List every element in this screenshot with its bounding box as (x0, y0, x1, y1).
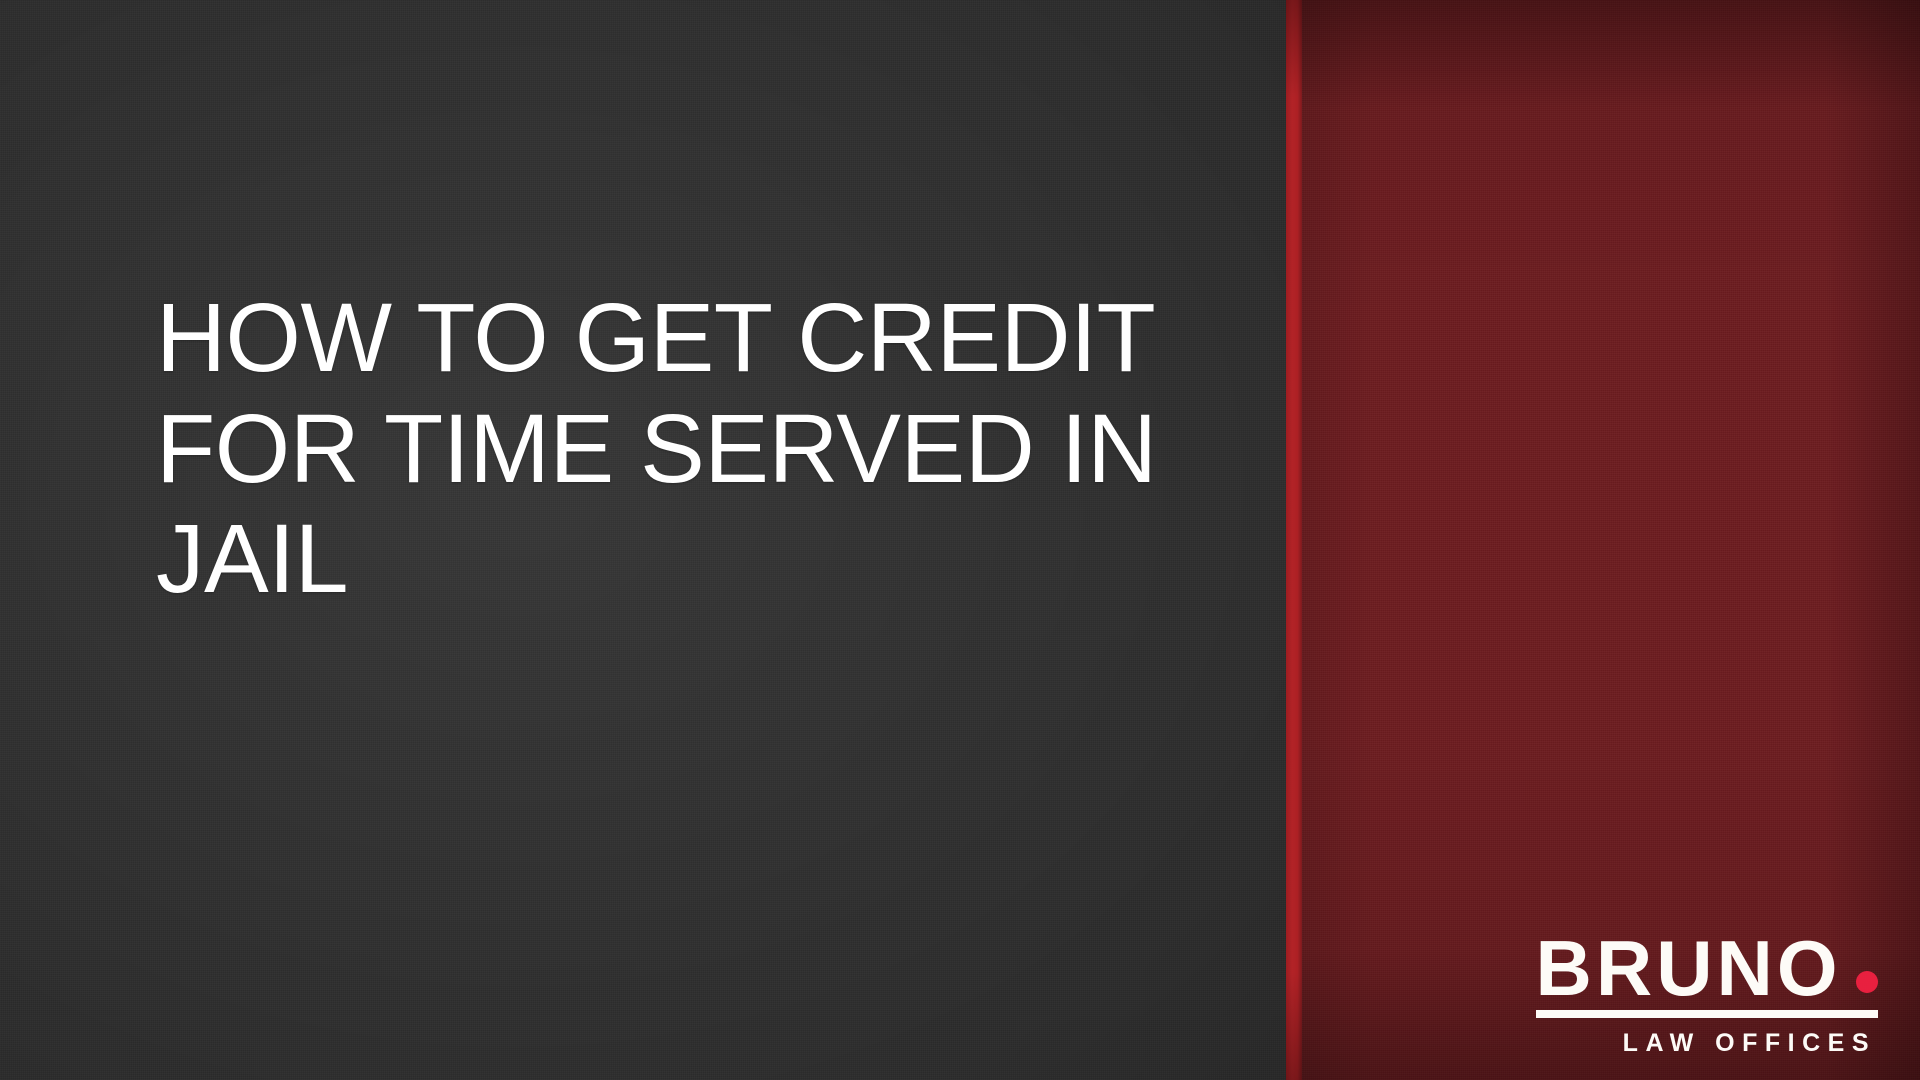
logo-subtitle-text: LAW OFFICES (1536, 1031, 1878, 1056)
logo-wordmark-row: BRUNO (1536, 932, 1878, 1005)
brand-logo: BRUNO LAW OFFICES (1536, 932, 1878, 1056)
presentation-slide: HOW TO GET CREDIT FOR TIME SERVED IN JAI… (0, 0, 1920, 1080)
logo-dot-icon (1856, 971, 1878, 993)
logo-wordmark-text: BRUNO (1536, 932, 1842, 1005)
slide-title: HOW TO GET CREDIT FOR TIME SERVED IN JAI… (156, 283, 1476, 615)
